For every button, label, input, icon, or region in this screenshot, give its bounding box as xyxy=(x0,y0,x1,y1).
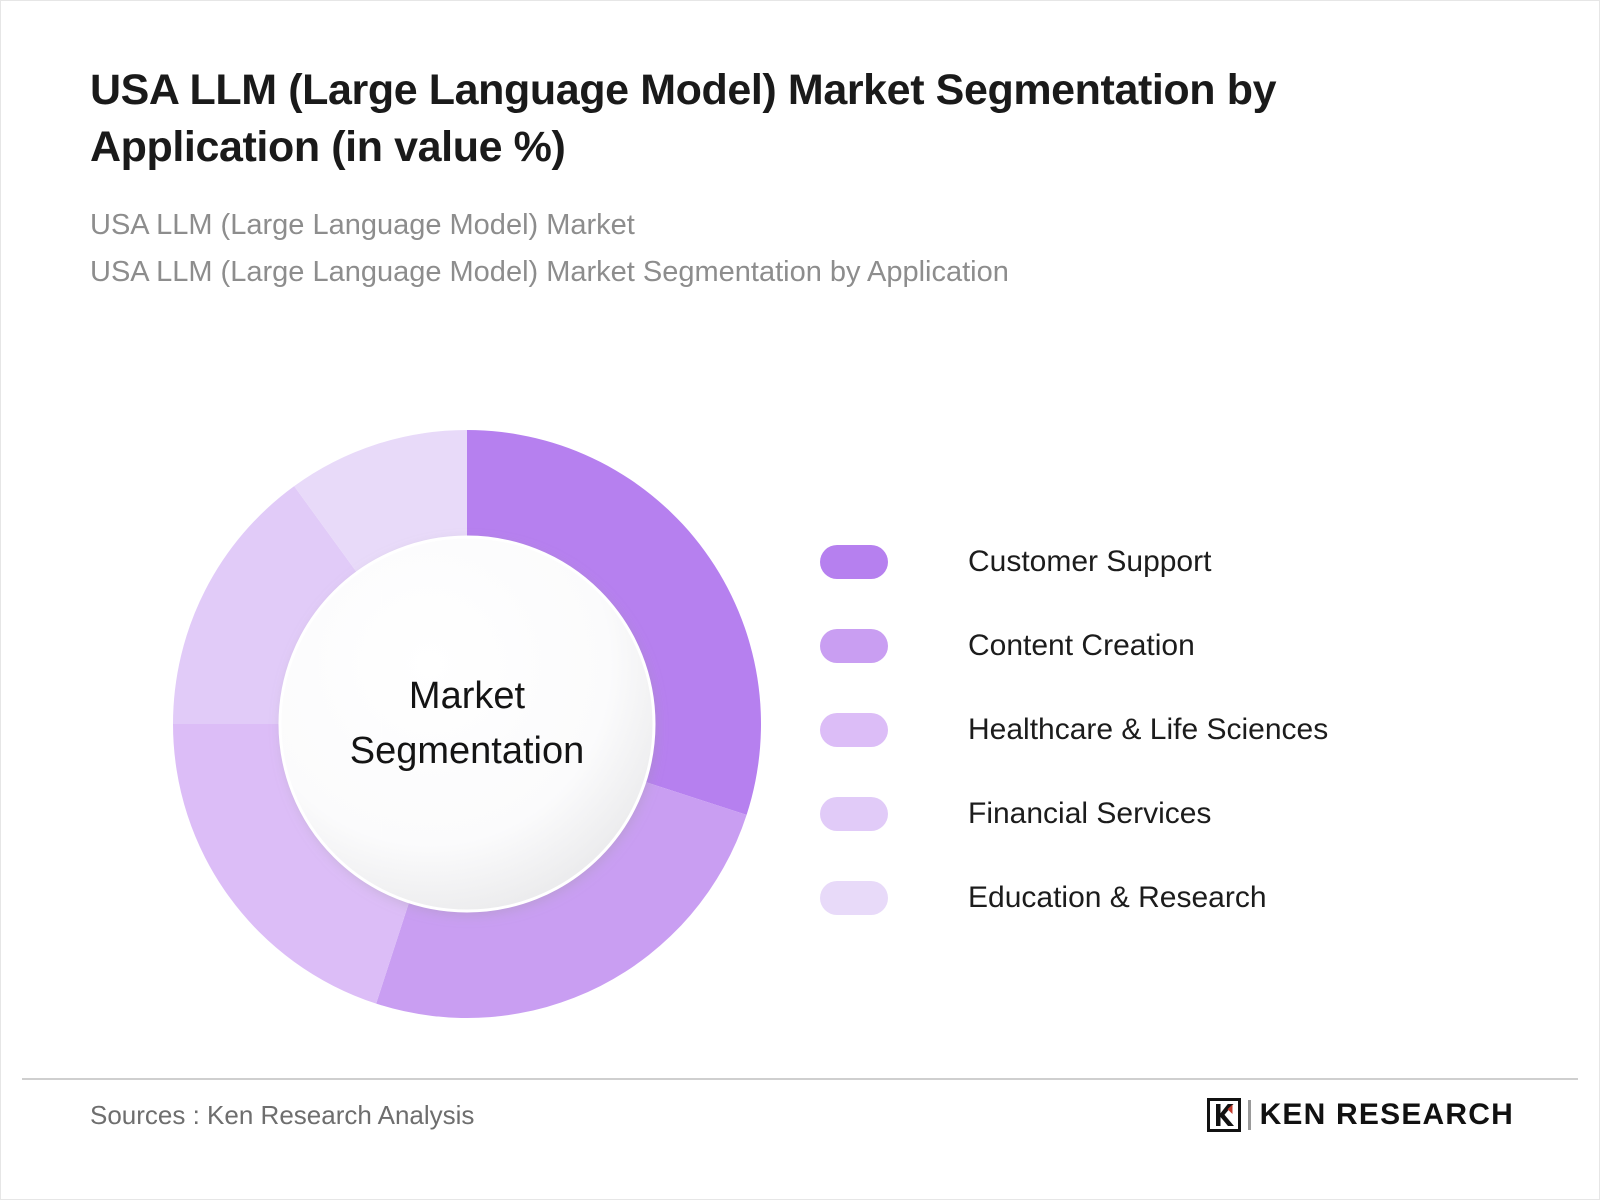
donut-chart: Market Segmentation xyxy=(173,430,761,1018)
subtitle-line-2: USA LLM (Large Language Model) Market Se… xyxy=(90,249,1520,296)
legend-label: Healthcare & Life Sciences xyxy=(968,713,1328,747)
legend-label: Content Creation xyxy=(968,629,1195,663)
ken-research-k-icon xyxy=(1207,1098,1241,1132)
chart-footer: Sources : Ken Research Analysis KEN RESE… xyxy=(0,1078,1600,1198)
legend-item[interactable]: Financial Services xyxy=(820,772,1460,856)
subtitle-block: USA LLM (Large Language Model) Market US… xyxy=(90,202,1520,296)
legend-item[interactable]: Content Creation xyxy=(820,604,1460,688)
brand-divider xyxy=(1248,1100,1251,1130)
legend-swatch-icon xyxy=(820,797,888,831)
legend-item[interactable]: Healthcare & Life Sciences xyxy=(820,688,1460,772)
donut-hole xyxy=(280,537,654,911)
sources-note: Sources : Ken Research Analysis xyxy=(90,1100,474,1131)
brand-name: KEN RESEARCH xyxy=(1260,1098,1514,1132)
subtitle-line-1: USA LLM (Large Language Model) Market xyxy=(90,202,1520,249)
legend-swatch-icon xyxy=(820,713,888,747)
brand-logo: KEN RESEARCH xyxy=(1207,1096,1514,1134)
donut-svg xyxy=(173,430,761,1018)
chart-area: Market Segmentation Customer SupportCont… xyxy=(0,380,1600,1060)
legend-swatch-icon xyxy=(820,545,888,579)
legend-swatch-icon xyxy=(820,881,888,915)
slide-canvas: USA LLM (Large Language Model) Market Se… xyxy=(0,0,1600,1200)
legend-swatch-icon xyxy=(820,629,888,663)
chart-header: USA LLM (Large Language Model) Market Se… xyxy=(90,62,1520,296)
legend-item[interactable]: Education & Research xyxy=(820,856,1460,940)
legend-label: Customer Support xyxy=(968,545,1211,579)
chart-legend: Customer SupportContent CreationHealthca… xyxy=(820,520,1460,940)
legend-item[interactable]: Customer Support xyxy=(820,520,1460,604)
legend-label: Education & Research xyxy=(968,881,1267,915)
page-title: USA LLM (Large Language Model) Market Se… xyxy=(90,62,1510,176)
legend-label: Financial Services xyxy=(968,797,1211,831)
